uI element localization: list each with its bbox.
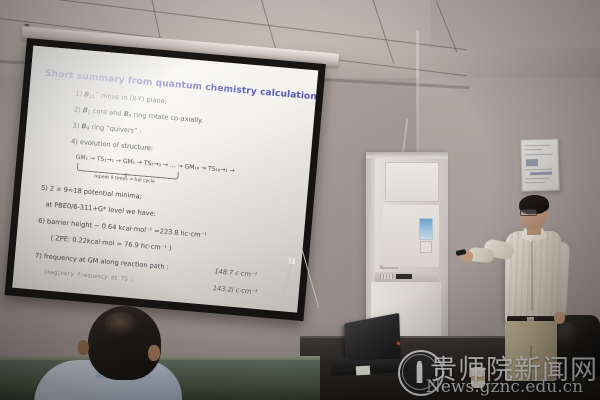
slide-line-5: 5) 2 × 9=18 potential minima;: [41, 184, 143, 201]
presenter-shirt-stripes: [505, 231, 561, 323]
ac-vent-slots: [380, 274, 393, 279]
item-1-number: 1): [75, 89, 82, 98]
presenter-right-hand: [554, 312, 565, 324]
laptop-power-led: [397, 342, 400, 345]
slide-line-8-value: 143.2i c·cm⁻¹: [213, 284, 258, 296]
audience-scalp-highlight: [104, 312, 138, 336]
chair-highlight: [557, 322, 579, 348]
slide-item-1: 1) B11− move in (X-Y) plane;: [75, 89, 167, 106]
slide-content: Short summary from quantum chemistry cal…: [12, 46, 318, 313]
presenter-leg-seam: [530, 345, 532, 381]
item-3-number: 3): [72, 121, 79, 130]
item-2-text: core and: [90, 107, 124, 118]
office-chair[interactable]: [551, 315, 600, 377]
slide-item-3: 3) B9 ring “quivers” :: [72, 121, 142, 136]
ac-sticker: [420, 241, 432, 253]
item-3-text: ring “quivers” :: [89, 123, 142, 136]
slide-line-8: imaginary frequency at TS :: [43, 269, 134, 283]
computer-mouse[interactable]: [331, 357, 354, 369]
presenter-ear: [543, 211, 548, 218]
item-1-text: move in (X-Y) plane;: [99, 92, 168, 106]
presenter-shirt-placket: [531, 235, 533, 311]
paper-cup-band: [471, 376, 485, 381]
audience-ear: [78, 340, 89, 355]
ac-top-panel: [366, 152, 448, 158]
slide-line-7: 7) frequency at GM along reaction path :: [35, 252, 170, 272]
item-2-text-2: ring rotate co-axially.: [131, 110, 203, 124]
projection-screen-frame: Short summary from quantum chemistry cal…: [5, 38, 326, 321]
ac-energy-label: [419, 218, 433, 240]
paper-cup-rim: [470, 367, 486, 371]
item-2-number: 2): [74, 105, 81, 114]
ac-front-panel: [385, 162, 439, 202]
laptop-label-sticker: [356, 366, 370, 376]
item-4-text: evolution of structure:: [80, 138, 154, 152]
audience-ear: [148, 345, 160, 361]
lecture-room-photo: Short summary from quantum chemistry cal…: [0, 0, 600, 400]
wall-notice-poster: [520, 139, 559, 192]
ceiling-right-section: [430, 0, 600, 48]
slide-line-6b: ( ZPE: 0.22kcal·mol = 76.9 hc·cm⁻¹ ): [50, 234, 172, 253]
projection-screen-surface: Short summary from quantum chemistry cal…: [12, 46, 318, 313]
slide-item-4: 4) evolution of structure:: [71, 137, 154, 152]
slide-line-7-value: 148.7 c·cm⁻¹: [214, 267, 257, 279]
ac-display[interactable]: [396, 274, 412, 279]
item-4-number: 4): [71, 137, 78, 146]
presenter-eyeglasses: [520, 209, 537, 216]
slide-line-5b: at PBE0/6-311+G* level we have:: [45, 200, 156, 218]
